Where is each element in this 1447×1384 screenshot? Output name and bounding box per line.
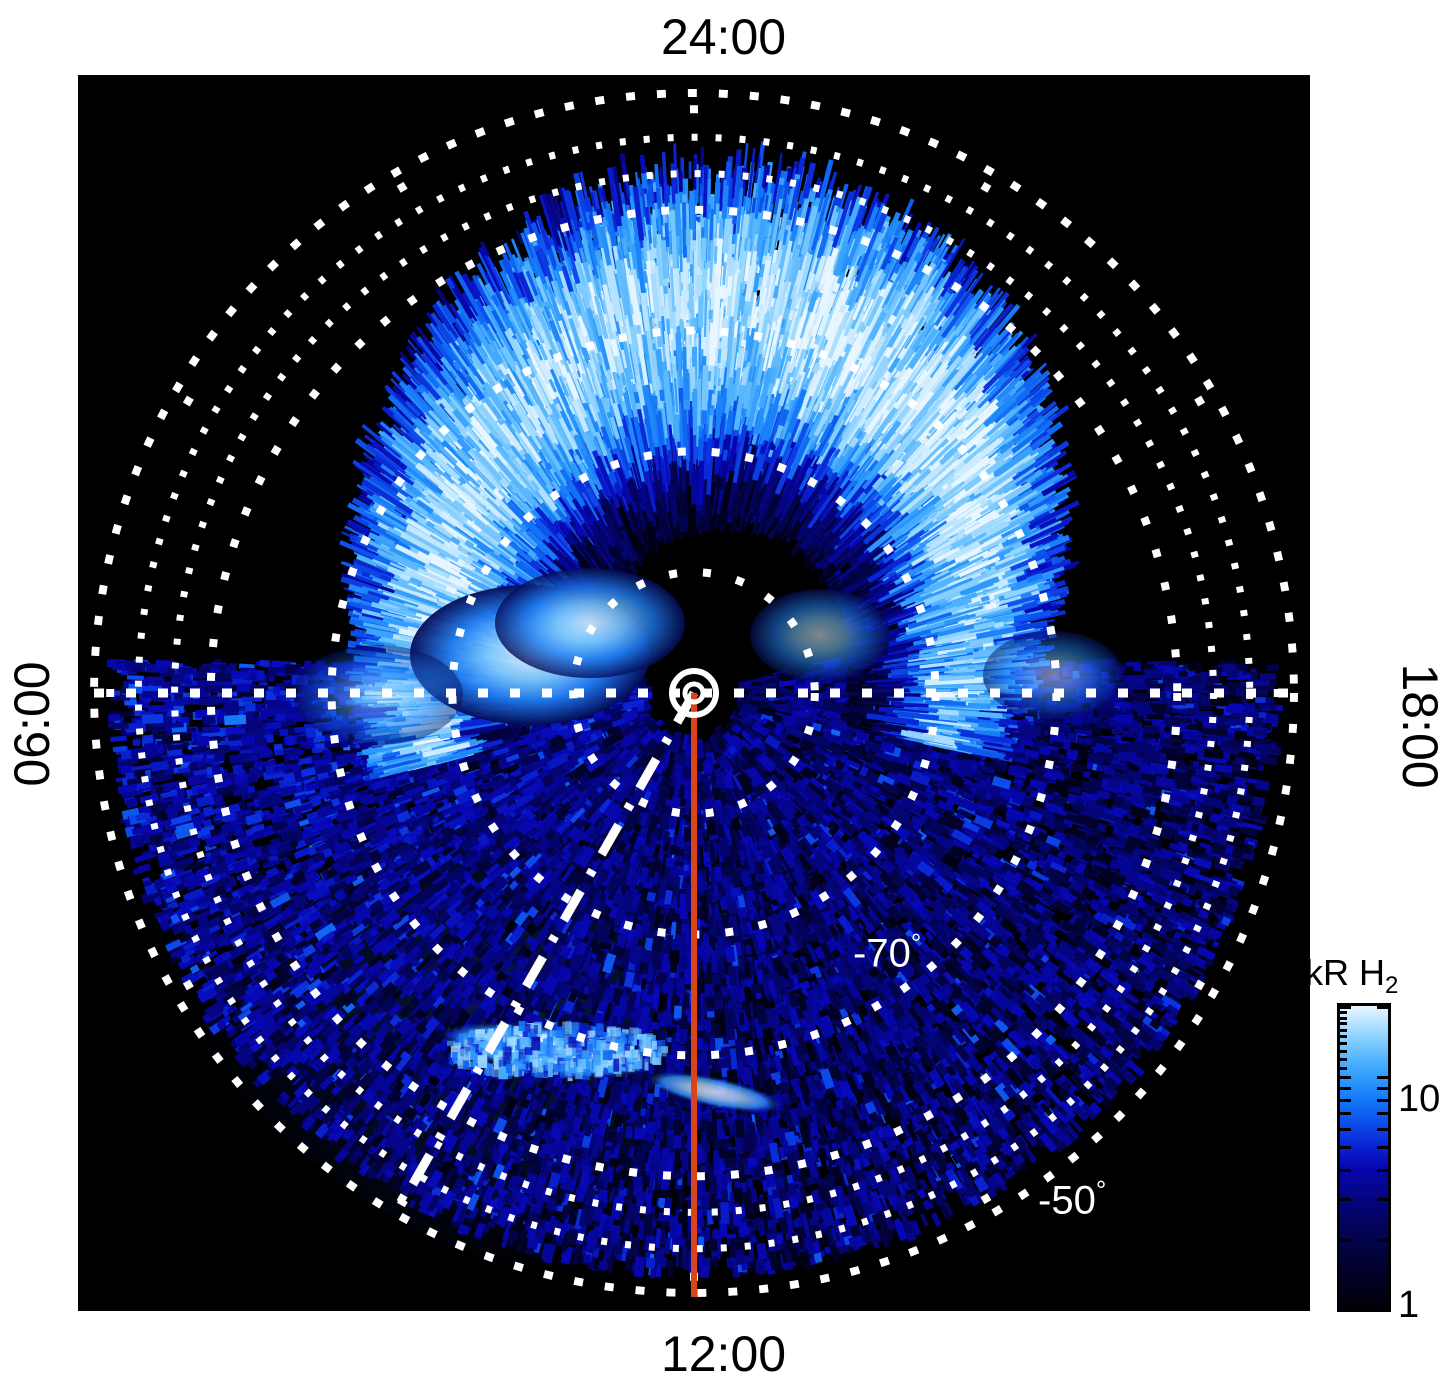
colorbar-minor-tick <box>1340 1067 1347 1070</box>
colorbar-tick <box>1377 1146 1388 1149</box>
colorbar-tick <box>1377 1006 1388 1009</box>
latitude-label-50: -50° <box>1038 1175 1106 1223</box>
polar-plot-area: -70° -50° <box>78 75 1310 1311</box>
colorbar-minor-tick <box>1340 1006 1347 1009</box>
colorbar-minor-tick <box>1340 1029 1347 1032</box>
colorbar-tick <box>1340 1169 1351 1172</box>
colorbar-tick-label-1: 1 <box>1398 1284 1419 1327</box>
colorbar-tick <box>1340 1128 1351 1131</box>
colorbar-tick-label-10: 10 <box>1398 1078 1440 1121</box>
colorbar-tick <box>1377 1087 1388 1090</box>
latitude-label-70: -70° <box>853 928 921 976</box>
colorbar-tick <box>1377 1099 1388 1102</box>
colorbar-tick <box>1340 1112 1351 1115</box>
colorbar <box>1337 1003 1391 1312</box>
local-time-label-0600: 06:00 <box>3 634 61 814</box>
colorbar-title: kR H2 <box>1305 952 1398 1000</box>
local-time-label-2400: 24:00 <box>0 8 1447 66</box>
colorbar-tick <box>1377 1128 1388 1131</box>
colorbar-minor-tick <box>1340 1011 1347 1014</box>
colorbar-tick <box>1377 1112 1388 1115</box>
colorbar-tick <box>1340 1099 1351 1102</box>
local-time-label-1800: 18:00 <box>1391 636 1447 816</box>
colorbar-tick <box>1377 1198 1388 1201</box>
colorbar-minor-tick <box>1340 1058 1347 1061</box>
colorbar-tick <box>1340 1239 1351 1242</box>
colorbar-minor-tick <box>1340 1035 1347 1038</box>
colorbar-tick <box>1377 1076 1388 1079</box>
colorbar-tick <box>1377 1169 1388 1172</box>
colorbar-tick <box>1377 1239 1388 1242</box>
colorbar-tick <box>1340 1087 1351 1090</box>
colorbar-minor-tick <box>1340 1017 1347 1020</box>
local-time-label-1200: 12:00 <box>0 1325 1447 1383</box>
colorbar-minor-tick <box>1340 1050 1347 1053</box>
colorbar-tick <box>1340 1076 1351 1079</box>
polar-aurora-image <box>78 75 1310 1311</box>
aurora-figure: -70° -50° 24:00 12:00 06:00 18:00 kR H2 … <box>0 0 1447 1384</box>
colorbar-minor-tick <box>1340 1022 1347 1025</box>
colorbar-tick <box>1340 1146 1351 1149</box>
colorbar-tick <box>1340 1198 1351 1201</box>
colorbar-minor-tick <box>1340 1042 1347 1045</box>
